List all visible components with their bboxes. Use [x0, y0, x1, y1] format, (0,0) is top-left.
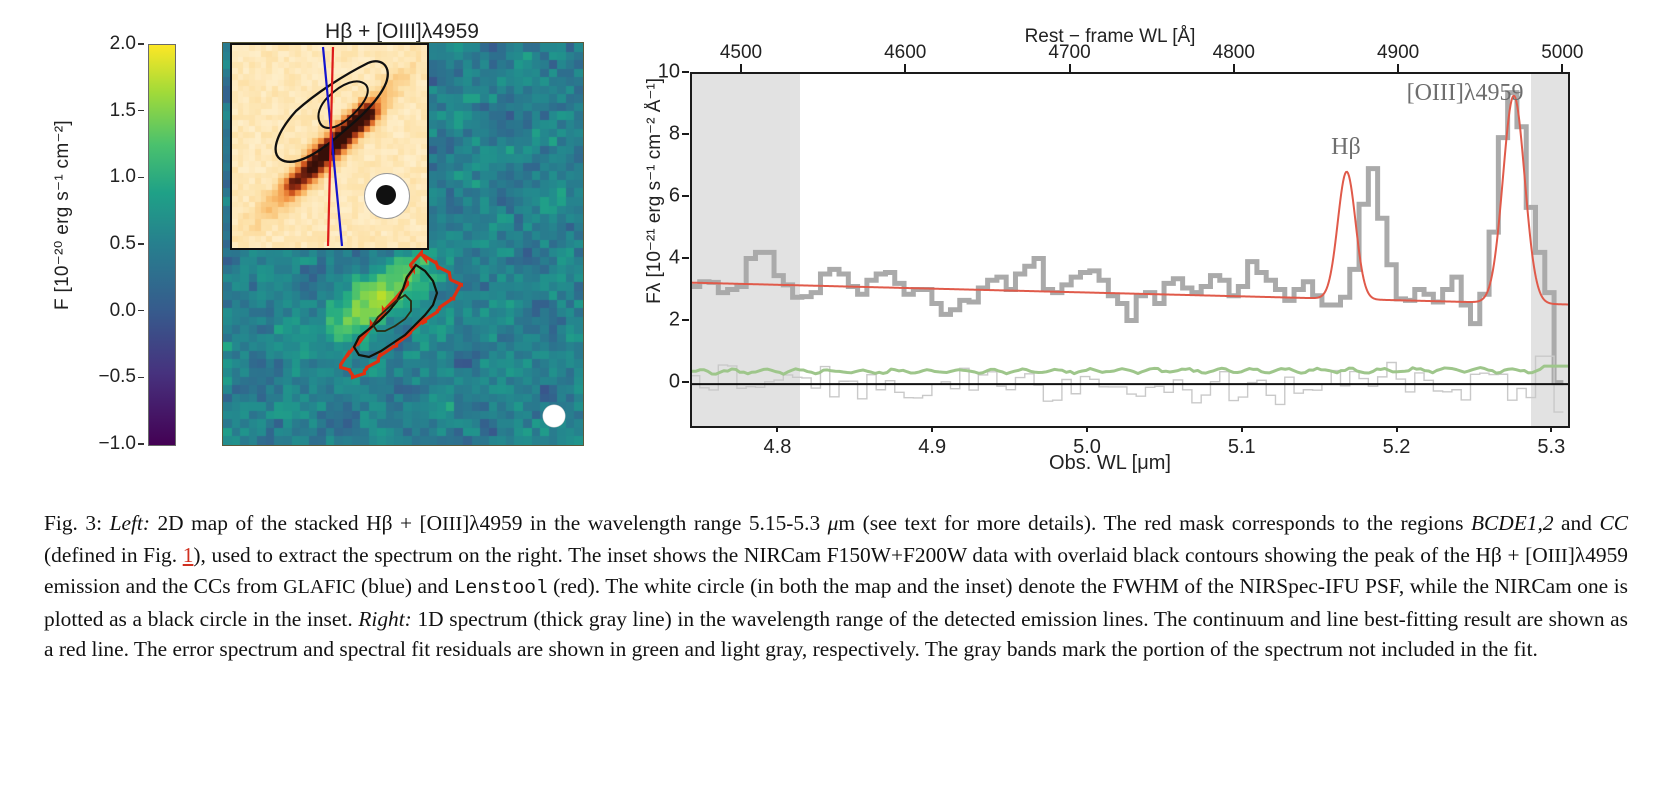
y-tick-mark — [682, 71, 689, 73]
x-tick-label: 5.2 — [1383, 436, 1411, 459]
caption-mu-italic: μ — [828, 511, 839, 535]
y-tick-label: 2 — [644, 309, 680, 332]
top-x-tick-label: 4500 — [720, 42, 762, 64]
top-x-tick-mark — [1233, 64, 1235, 72]
caption-left-italic: Left: — [110, 511, 150, 535]
caption-seg-f: (defined in Fig. — [44, 543, 183, 567]
y-tick-mark — [682, 133, 689, 135]
top-x-tick-label: 4800 — [1213, 42, 1255, 64]
annotation-oiii4959: [OIII]λ4959 — [1407, 80, 1524, 107]
spectrum-curves — [692, 74, 1568, 426]
y-tick-mark — [682, 257, 689, 259]
x-tick-label: 5.1 — [1228, 436, 1256, 459]
top-x-tick-label: 4900 — [1377, 42, 1419, 64]
top-x-tick-mark — [1561, 64, 1563, 72]
x-tick-label: 4.8 — [764, 436, 792, 459]
y-tick-label: 10 — [644, 61, 680, 84]
caption-seg-j: (blue) and — [355, 574, 454, 598]
x-tick-label: 5.3 — [1537, 436, 1565, 459]
x-tick-label: 4.9 — [918, 436, 946, 459]
caption-bcde-italic: BCDE1,2 — [1471, 511, 1554, 535]
top-x-tick-mark — [904, 64, 906, 72]
top-x-tick-label: 4600 — [884, 42, 926, 64]
y-tick-mark — [682, 319, 689, 321]
spectrum-line — [692, 93, 1563, 383]
y-tick-label: 8 — [644, 123, 680, 146]
top-x-tick-mark — [1397, 64, 1399, 72]
figure-root: F [10⁻²⁰ erg s⁻¹ cm⁻²] 2.01.51.00.50.0−0… — [0, 0, 1671, 806]
caption-seg-c: ]λ4959 in the wavelength range 5.15-5.3 — [462, 511, 828, 535]
top-x-tick-label: 4700 — [1048, 42, 1090, 64]
caption-cc-italic: CC — [1599, 511, 1628, 535]
x-tick-label: 5.0 — [1073, 436, 1101, 459]
caption-seg-b: 2D map of the stacked Hβ + [O — [150, 511, 442, 535]
caption-glafic-smallcaps: GLAFIC — [283, 576, 355, 598]
y-tick-mark — [682, 195, 689, 197]
figure-caption: Fig. 3: Left: 2D map of the stacked Hβ +… — [44, 508, 1628, 665]
caption-seg-g: ), used to extract the spectrum on the r… — [193, 543, 1547, 567]
caption-lenstool-code: Lenstool — [454, 577, 548, 599]
y-tick-mark — [682, 381, 689, 383]
y-tick-label: 4 — [644, 247, 680, 270]
caption-seg-d: m (see text for more details). The red m… — [838, 511, 1471, 535]
caption-right-italic: Right: — [358, 607, 411, 631]
top-x-tick-mark — [1069, 64, 1071, 72]
top-x-tick-label: 5000 — [1541, 42, 1583, 64]
top-x-tick-mark — [740, 64, 742, 72]
y-tick-label: 0 — [644, 371, 680, 394]
caption-seg-e: and — [1554, 511, 1600, 535]
error-spectrum-line — [692, 366, 1568, 374]
y-tick-label: 6 — [644, 185, 680, 208]
caption-oiii-smallcaps-2: III — [1548, 545, 1568, 567]
spectrum-plot-area: Hβ[OIII]λ4959 — [690, 72, 1570, 428]
caption-fig1-reference[interactable]: 1 — [183, 543, 194, 567]
caption-fig-label: Fig. 3: — [44, 511, 110, 535]
caption-oiii-smallcaps-1: III — [442, 513, 462, 535]
annotation-hbeta: Hβ — [1331, 134, 1361, 161]
